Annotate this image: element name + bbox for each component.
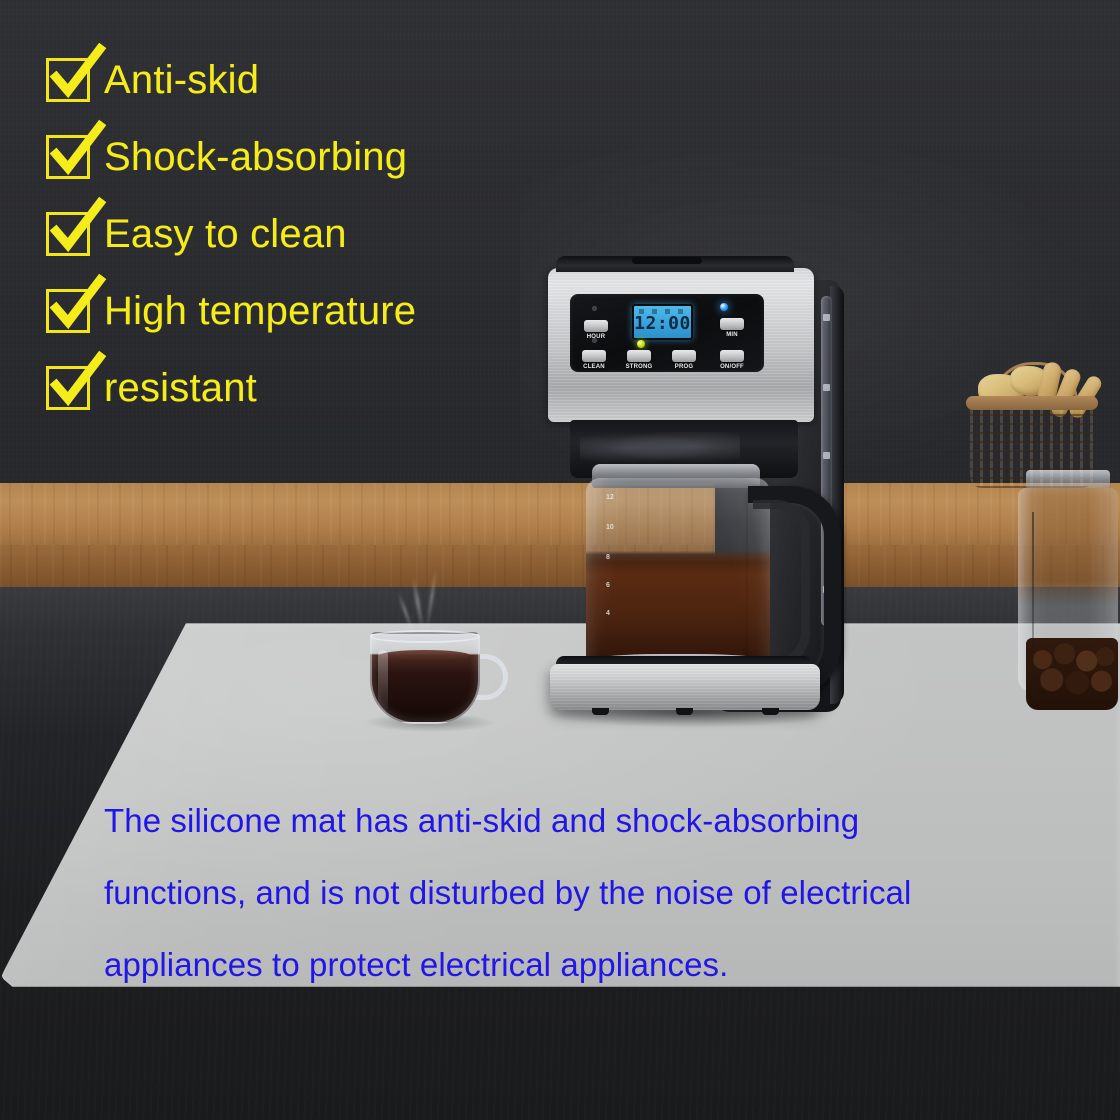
feature-item: resistant — [46, 360, 516, 416]
carafe-mark: 10 — [606, 524, 614, 531]
glass-coffee-cup — [364, 624, 514, 734]
prog-button[interactable] — [672, 350, 696, 362]
jar-body — [1018, 488, 1118, 692]
feature-label: Shock-absorbing — [104, 137, 407, 177]
feature-item: Easy to clean — [46, 206, 516, 262]
jar-seam — [1032, 512, 1034, 702]
min-button[interactable] — [720, 318, 744, 330]
prog-button-label: PROG — [667, 364, 701, 370]
carafe-mark: 8 — [606, 554, 610, 561]
machine-foot — [762, 708, 779, 715]
checkbox-icon[interactable] — [46, 58, 90, 102]
power-led-icon — [720, 303, 728, 311]
feature-item: Shock-absorbing — [46, 129, 516, 185]
cup-rim — [370, 630, 480, 643]
carafe-handle-inner — [753, 500, 810, 668]
feature-label: resistant — [104, 368, 257, 408]
control-panel: 12:00 HOUR MIN CLEAN STRONG PROG ON/OFF — [570, 294, 764, 372]
product-feature-image: 12:00 HOUR MIN CLEAN STRONG PROG ON/OFF — [0, 0, 1120, 1120]
caption-line: appliances to protect electrical applian… — [104, 929, 1104, 1001]
feature-label: Anti-skid — [104, 60, 259, 100]
mat-caption: The silicone mat has anti-skid and shock… — [104, 785, 1104, 1001]
coffee-surface — [380, 650, 470, 661]
coffee-beans — [1026, 638, 1118, 710]
lid-notch — [632, 257, 702, 264]
feature-checklist: Anti-skid Shock-absorbing Easy to clean — [46, 52, 516, 437]
carafe-mark: 12 — [606, 494, 614, 501]
coffee-bean-jar — [1016, 470, 1120, 700]
hour-button-label: HOUR — [580, 334, 612, 340]
coffee-maker: 12:00 HOUR MIN CLEAN STRONG PROG ON/OFF — [534, 256, 886, 756]
jar-lid — [1026, 470, 1110, 488]
panel-indicator-dot — [592, 306, 597, 311]
lcd-display: 12:00 — [632, 304, 693, 340]
hour-button[interactable] — [584, 320, 608, 332]
checkbox-icon[interactable] — [46, 366, 90, 410]
machine-foot — [592, 708, 609, 715]
machine-foot — [676, 708, 693, 715]
machine-base — [550, 664, 820, 710]
feature-item: Anti-skid — [46, 52, 516, 108]
checkbox-icon[interactable] — [46, 212, 90, 256]
water-tank-lid[interactable] — [556, 256, 794, 272]
cup-highlight — [378, 650, 388, 712]
feature-item: High temperature — [46, 283, 516, 339]
strong-button[interactable] — [627, 350, 651, 362]
feature-label: Easy to clean — [104, 214, 347, 254]
checkbox-icon[interactable] — [46, 289, 90, 333]
checkbox-icon[interactable] — [46, 135, 90, 179]
water-level-tick — [823, 384, 830, 391]
water-level-tick — [823, 452, 830, 459]
carafe-mark: 4 — [606, 610, 610, 617]
onoff-button[interactable] — [720, 350, 744, 362]
carafe-mark: 6 — [606, 582, 610, 589]
lcd-segment-bar — [639, 309, 686, 314]
base-brushed-texture — [550, 664, 820, 710]
clean-button-label: CLEAN — [578, 364, 610, 370]
basket-rim — [966, 396, 1098, 410]
water-level-tick — [823, 314, 830, 321]
caption-line: functions, and is not disturbed by the n… — [104, 857, 1104, 929]
clean-button[interactable] — [582, 350, 606, 362]
carafe-glass-highlight — [586, 478, 770, 680]
min-button-label: MIN — [716, 332, 748, 338]
filter-holder — [580, 432, 740, 468]
strong-led-icon — [637, 340, 645, 348]
caption-line: The silicone mat has anti-skid and shock… — [104, 785, 1104, 857]
strong-button-label: STRONG — [621, 364, 657, 370]
clock-time: 12:00 — [634, 315, 691, 333]
feature-label: High temperature — [104, 291, 416, 331]
onoff-button-label: ON/OFF — [714, 364, 750, 370]
